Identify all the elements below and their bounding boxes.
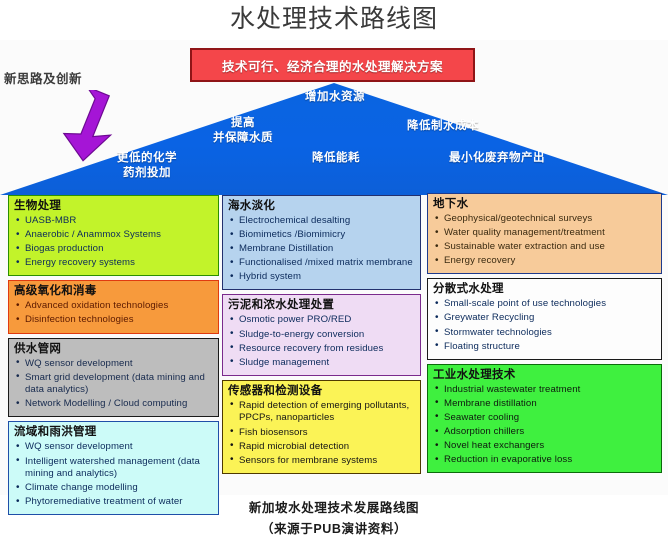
list-item: Sludge-to-energy conversion <box>229 329 416 342</box>
card-decentralised-water-treatment[interactable]: 分散式水处理 Small-scale point of use technolo… <box>427 278 662 359</box>
card-list: UASB-MBR Anaerobic / Anammox Systems Bio… <box>13 215 214 270</box>
list-item: Adsorption chillers <box>434 426 657 439</box>
list-item: Osmotic power PRO/RED <box>229 314 416 327</box>
card-list: Geophysical/geotechnical surveys Water q… <box>432 213 657 268</box>
list-item: WQ sensor development <box>15 358 214 371</box>
list-item: Climate change modelling <box>15 482 214 495</box>
list-item: Membrane Distillation <box>229 243 416 256</box>
list-item: Smart grid development (data mining and … <box>15 372 214 397</box>
pyramid-label-minimise-waste: 最小化废弃物产出 <box>420 151 574 166</box>
list-item: Biogas production <box>15 243 214 256</box>
pyramid-label-reduce-water-cost: 降低制水成本 <box>388 119 498 134</box>
figure-caption: 新加坡水处理技术发展路线图 （来源于PUB演讲资料） <box>0 498 668 540</box>
page-title: 水处理技术路线图 <box>0 2 668 36</box>
column-left: 生物处理 UASB-MBR Anaerobic / Anammox System… <box>8 195 219 519</box>
list-item: Rapid detection of emerging pollutants, … <box>229 400 416 425</box>
list-item: Novel heat exchangers <box>434 440 657 453</box>
card-header: 地下水 <box>433 197 657 212</box>
pyramid-label-reduce-energy: 降低能耗 <box>283 151 389 166</box>
list-item: Disinfection technologies <box>15 314 214 327</box>
card-water-supply-network[interactable]: 供水管网 WQ sensor development Smart grid de… <box>8 338 219 418</box>
list-item: Reduction in evaporative loss <box>434 454 657 467</box>
card-header: 污泥和浓水处理处置 <box>228 298 416 313</box>
list-item: Geophysical/geotechnical surveys <box>434 213 657 226</box>
list-item: Electrochemical desalting <box>229 215 416 228</box>
card-list: Rapid detection of emerging pollutants, … <box>227 400 416 467</box>
card-advanced-oxidation-disinfection[interactable]: 高级氧化和消毒 Advanced oxidation technologies … <box>8 280 219 333</box>
card-header: 海水淡化 <box>228 199 416 214</box>
list-item: Hybrid system <box>229 271 416 284</box>
caption-line-1: 新加坡水处理技术发展路线图 <box>0 498 668 518</box>
list-item: Network Modelling / Cloud computing <box>15 398 214 411</box>
list-item: Energy recovery <box>434 255 657 268</box>
card-sensors-detection-equipment[interactable]: 传感器和检测设备 Rapid detection of emerging pol… <box>222 380 421 474</box>
list-item: Industrial wastewater treatment <box>434 384 657 397</box>
card-sludge-brine-treatment[interactable]: 污泥和浓水处理处置 Osmotic power PRO/RED Sludge-t… <box>222 294 421 375</box>
list-item: Greywater Recycling <box>434 312 657 325</box>
roadmap-diagram: 水处理技术路线图 技术可行、经济合理的水处理解决方案 增加水资源 提高 并保障水… <box>0 0 668 550</box>
purple-down-right-arrow-icon <box>62 90 134 168</box>
list-item: Small-scale point of use technologies <box>434 298 657 311</box>
card-list: Advanced oxidation technologies Disinfec… <box>13 300 214 327</box>
card-list: Small-scale point of use technologies Gr… <box>432 298 657 353</box>
list-item: Rapid microbial detection <box>229 441 416 454</box>
card-header: 高级氧化和消毒 <box>14 284 214 299</box>
card-groundwater[interactable]: 地下水 Geophysical/geotechnical surveys Wat… <box>427 193 662 274</box>
list-item: Biomimetics /Biomimicry <box>229 229 416 242</box>
list-item: Resource recovery from residues <box>229 343 416 356</box>
list-item: Sensors for membrane systems <box>229 455 416 468</box>
card-header: 生物处理 <box>14 199 214 214</box>
card-header: 传感器和检测设备 <box>228 384 416 399</box>
list-item: Water quality management/treatment <box>434 227 657 240</box>
column-right: 地下水 Geophysical/geotechnical surveys Wat… <box>427 193 662 477</box>
list-item: Seawater cooling <box>434 412 657 425</box>
card-list: WQ sensor development Smart grid develop… <box>13 358 214 411</box>
list-item: Advanced oxidation technologies <box>15 300 214 313</box>
new-ideas-annotation: 新思路及创新 <box>4 68 82 87</box>
list-item: Sustainable water extraction and use <box>434 241 657 254</box>
list-item: Energy recovery systems <box>15 257 214 270</box>
card-biological-treatment[interactable]: 生物处理 UASB-MBR Anaerobic / Anammox System… <box>8 195 219 276</box>
card-header: 分散式水处理 <box>433 282 657 297</box>
list-item: Membrane distillation <box>434 398 657 411</box>
card-list: Industrial wastewater treatment Membrane… <box>432 384 657 467</box>
card-header: 工业水处理技术 <box>433 368 657 383</box>
card-industrial-water-treatment[interactable]: 工业水处理技术 Industrial wastewater treatment … <box>427 364 662 474</box>
card-desalination[interactable]: 海水淡化 Electrochemical desalting Biomimeti… <box>222 195 421 290</box>
list-item: Anaerobic / Anammox Systems <box>15 229 214 242</box>
list-item: Floating structure <box>434 341 657 354</box>
list-item: UASB-MBR <box>15 215 214 228</box>
list-item: WQ sensor development <box>15 441 214 454</box>
card-header: 供水管网 <box>14 342 214 357</box>
caption-line-2: （来源于PUB演讲资料） <box>0 518 668 540</box>
list-item: Stormwater technologies <box>434 327 657 340</box>
list-item: Fish biosensors <box>229 427 416 440</box>
goal-banner: 技术可行、经济合理的水处理解决方案 <box>190 48 475 82</box>
pyramid-label-increase-water-resources: 增加水资源 <box>280 90 390 105</box>
list-item: Intelligent watershed management (data m… <box>15 456 214 481</box>
list-item: Sludge management <box>229 357 416 370</box>
card-list: Electrochemical desalting Biomimetics /B… <box>227 215 416 284</box>
list-item: Functionalised /mixed matrix membrane <box>229 257 416 270</box>
card-list: Osmotic power PRO/RED Sludge-to-energy c… <box>227 314 416 369</box>
column-middle: 海水淡化 Electrochemical desalting Biomimeti… <box>222 195 421 478</box>
pyramid-label-improve-water-quality: 提高 并保障水质 <box>198 116 288 146</box>
card-header: 流域和雨洪管理 <box>14 425 214 440</box>
